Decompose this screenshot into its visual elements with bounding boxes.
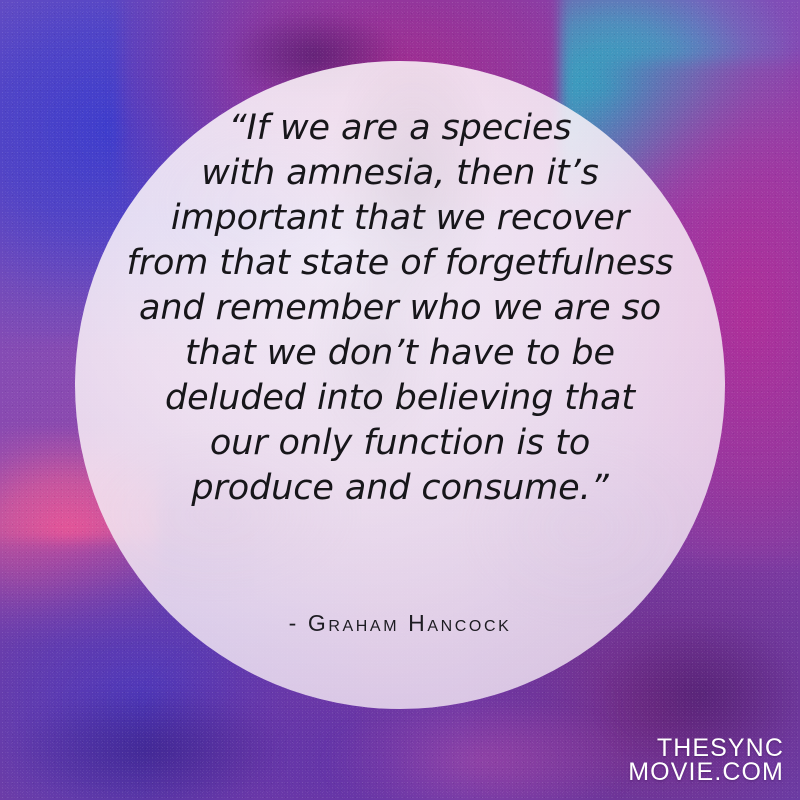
quote-line: that we don’t have to be: [46, 331, 754, 376]
watermark-line-moviecom: MOVIE.COM: [628, 760, 784, 784]
quote-line: produce and consume.”: [46, 466, 754, 511]
quote-line: important that we recover: [46, 196, 754, 241]
quote-line: our only function is to: [46, 421, 754, 466]
quote-line: from that state of forgetfulness: [46, 241, 754, 286]
quote-line: with amnesia, then it’s: [46, 151, 754, 196]
quote-line: deluded into believing that: [46, 376, 754, 421]
site-watermark: THESYNC MOVIE.COM: [628, 736, 784, 784]
quote-text: “If we are a species with amnesia, then …: [0, 106, 800, 511]
quote-graphic: “If we are a species with amnesia, then …: [0, 0, 800, 800]
quote-attribution: - Graham Hancock: [0, 610, 800, 637]
quote-line: and remember who we are so: [46, 286, 754, 331]
watermark-line-thesync: THESYNC: [628, 736, 784, 760]
quote-line: “If we are a species: [46, 106, 754, 151]
